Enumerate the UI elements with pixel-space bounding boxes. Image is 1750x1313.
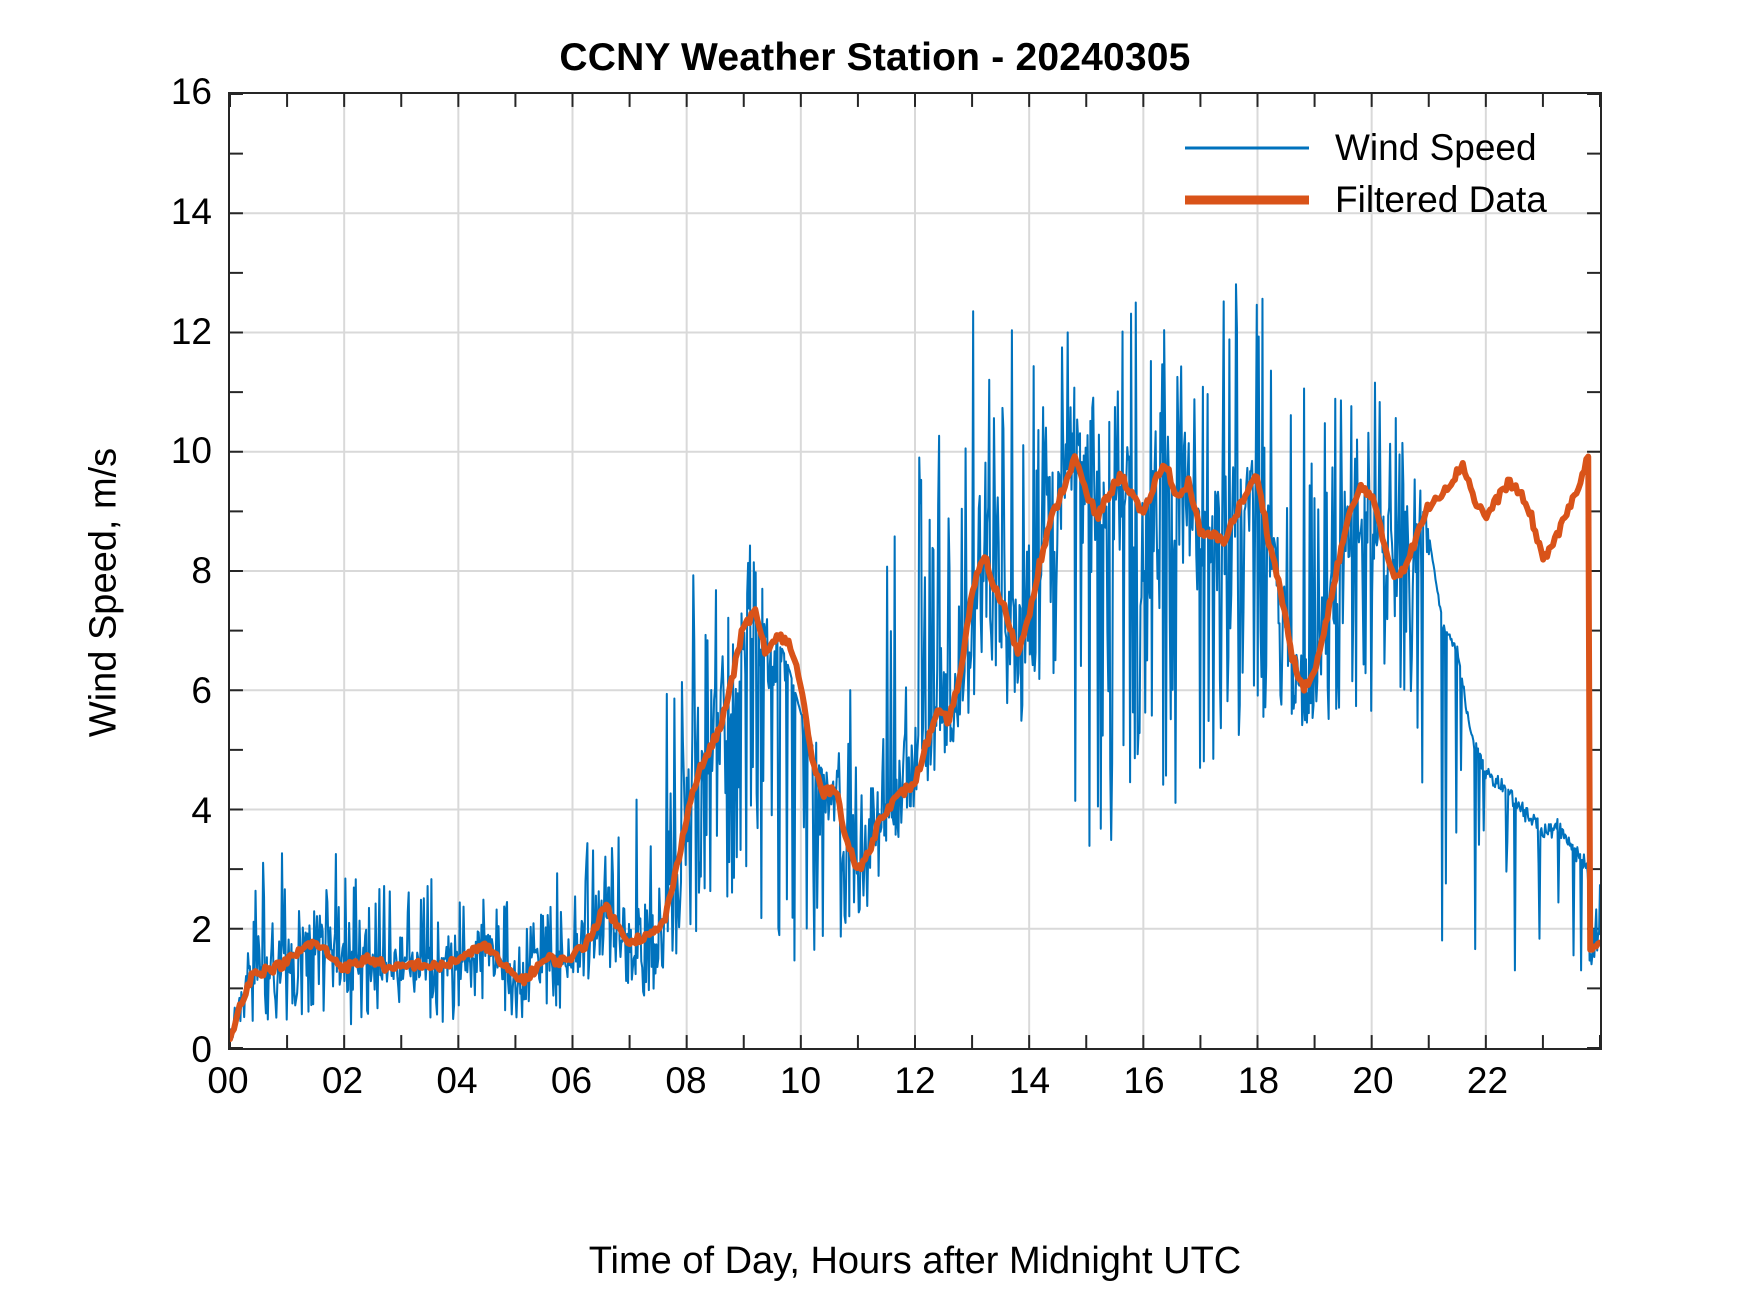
y-tick-label: 12 — [28, 313, 228, 350]
x-tick-label: 04 — [397, 1060, 517, 1102]
legend-label-wind-speed: Wind Speed — [1335, 128, 1537, 168]
x-tick-label: 08 — [626, 1060, 746, 1102]
x-tick-label: 22 — [1428, 1060, 1548, 1102]
chart-legend: Wind Speed Filtered Data — [1185, 122, 1585, 226]
y-tick-label: 14 — [28, 193, 228, 230]
x-tick-label: 16 — [1084, 1060, 1204, 1102]
legend-item-wind-speed: Wind Speed — [1185, 122, 1585, 174]
y-tick-label: 6 — [28, 672, 228, 709]
x-axis-label: Time of Day, Hours after Midnight UTC — [228, 1240, 1602, 1283]
chart-title: CCNY Weather Station - 20240305 — [0, 36, 1750, 80]
series-wind-speed — [230, 284, 1600, 1042]
x-tick-label: 14 — [970, 1060, 1090, 1102]
x-tick-label: 02 — [283, 1060, 403, 1102]
x-tick-label: 00 — [168, 1060, 288, 1102]
y-tick-label: 2 — [28, 911, 228, 948]
x-tick-label: 06 — [512, 1060, 632, 1102]
legend-label-filtered-data: Filtered Data — [1335, 180, 1547, 220]
y-tick-label: 10 — [28, 432, 228, 469]
figure-canvas: CCNY Weather Station - 20240305 Wind Spe… — [0, 0, 1750, 1313]
legend-item-filtered-data: Filtered Data — [1185, 174, 1585, 226]
y-tick-label: 4 — [28, 792, 228, 829]
x-tick-label: 12 — [855, 1060, 975, 1102]
plot-area — [228, 92, 1602, 1050]
y-axis-tick-labels: 0246810121416 — [0, 92, 228, 1050]
x-tick-label: 18 — [1199, 1060, 1319, 1102]
legend-swatch-filtered-data-icon — [1185, 196, 1309, 205]
x-tick-label: 10 — [741, 1060, 861, 1102]
y-tick-label: 8 — [28, 552, 228, 589]
x-tick-label: 20 — [1313, 1060, 1433, 1102]
y-tick-label: 16 — [28, 73, 228, 110]
x-axis-tick-labels: 000204060810121416182022 — [228, 1060, 1602, 1120]
data-series-layer — [230, 94, 1600, 1048]
legend-swatch-wind-speed-icon — [1185, 147, 1309, 150]
